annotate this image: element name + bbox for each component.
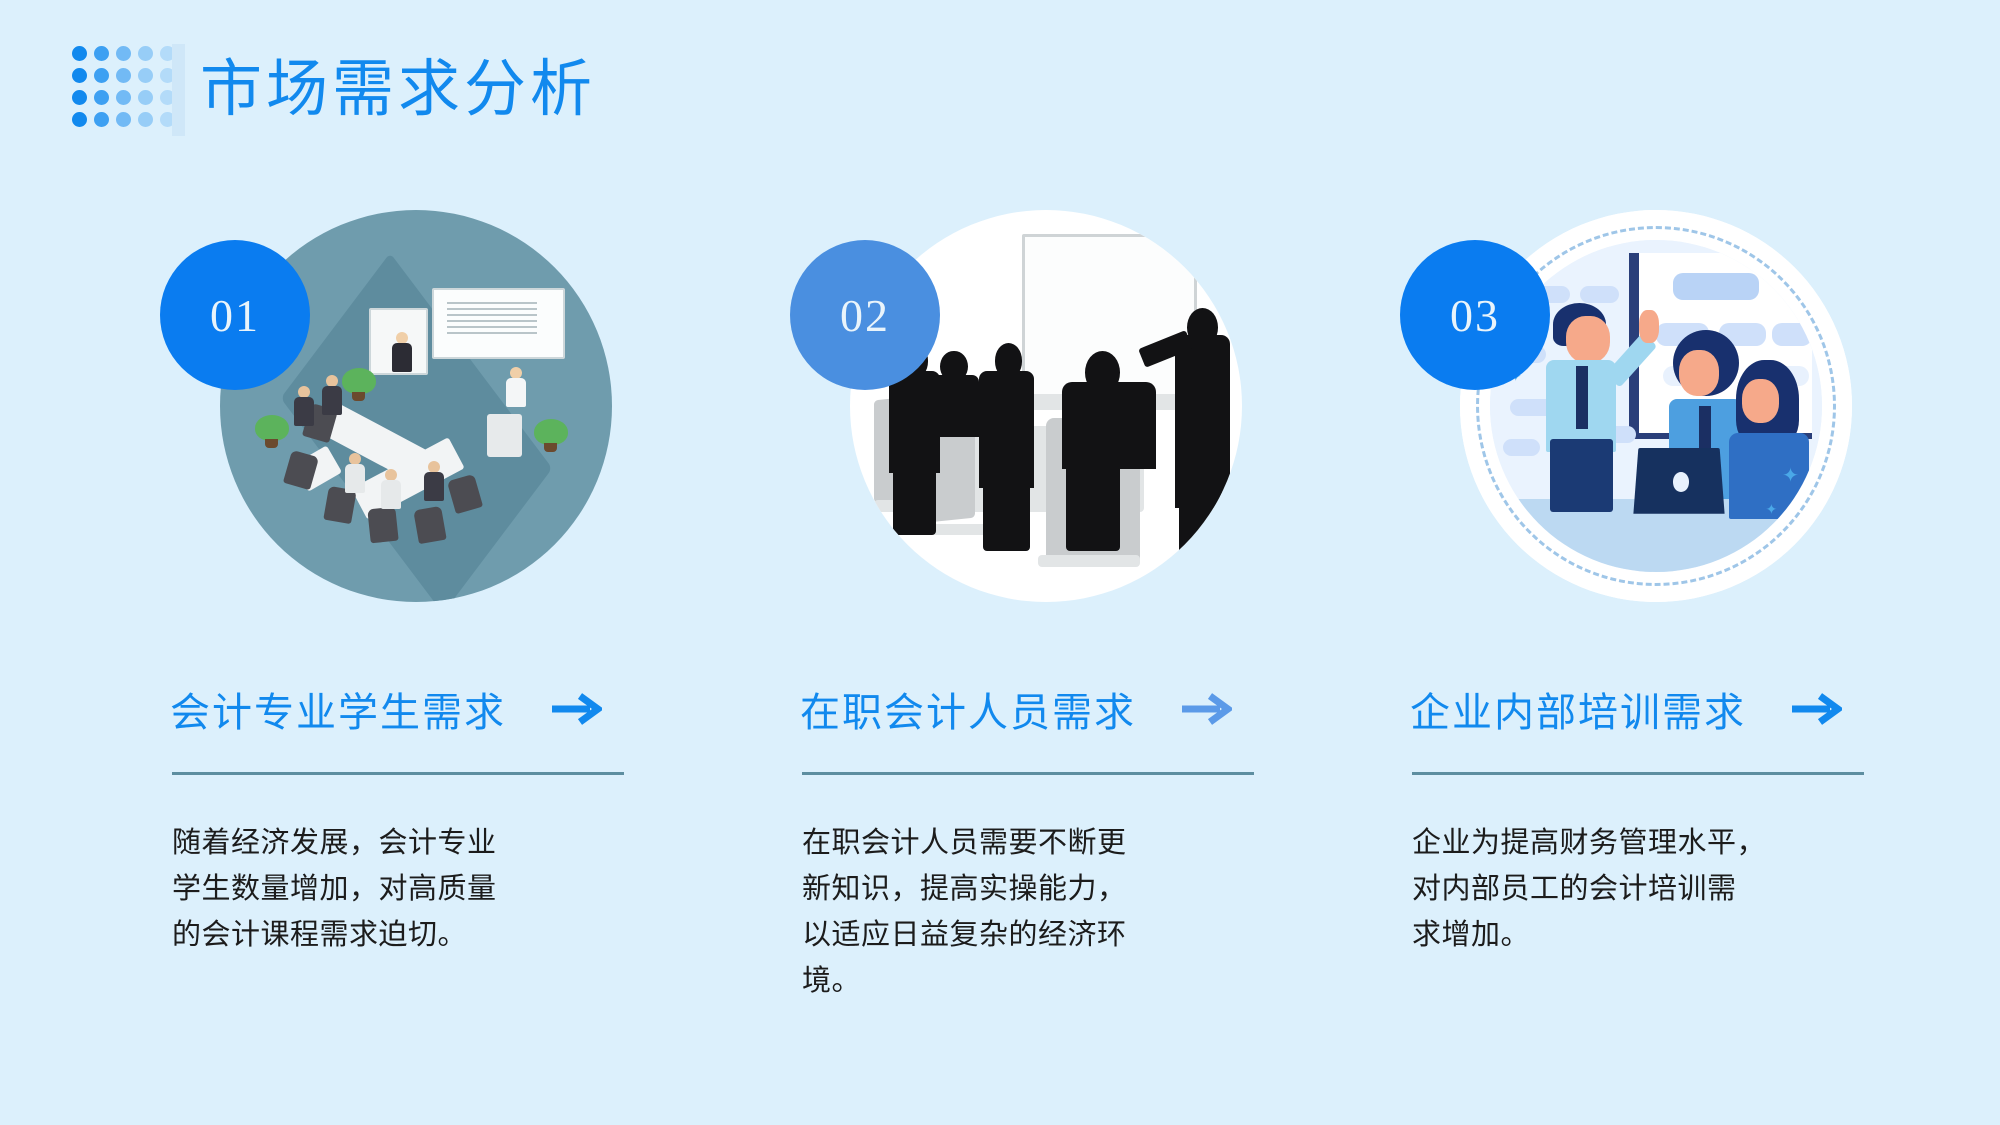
card-headline-row[interactable]: 在职会计人员需求 bbox=[800, 680, 1232, 738]
card-item[interactable]: 02 在职会计人员需求 在职会计人员需要不断更 新知识，提高实操能力， 以适应日… bbox=[790, 210, 1310, 1030]
card-number: 01 bbox=[210, 289, 260, 342]
card-heading: 企业内部培训需求 bbox=[1410, 680, 1746, 738]
card-list: 01 会计专业学生需求 随着经济发展，会计专业 学生数量增加，对高质量 的会计课… bbox=[0, 210, 2000, 1030]
card-divider bbox=[802, 772, 1254, 775]
card-media: 02 bbox=[790, 210, 1220, 610]
card-body-text: 在职会计人员需要不断更 新知识，提高实操能力， 以适应日益复杂的经济环 境。 bbox=[802, 820, 1174, 1004]
title-accent-bar bbox=[172, 44, 185, 136]
card-divider bbox=[172, 772, 624, 775]
card-body-text: 企业为提高财务管理水平， 对内部员工的会计培训需 求增加。 bbox=[1412, 820, 1784, 958]
arrow-right-icon[interactable] bbox=[1180, 692, 1232, 726]
card-divider bbox=[1412, 772, 1864, 775]
card-number: 02 bbox=[840, 289, 890, 342]
card-heading: 会计专业学生需求 bbox=[170, 680, 506, 738]
card-item[interactable]: ✦ ✦ ✦ ✦ ✦ ✦ 03 企业内部培训需求 bbox=[1400, 210, 1920, 1030]
page-title: 市场需求分析 bbox=[200, 42, 596, 138]
card-number-badge: 03 bbox=[1400, 240, 1550, 390]
slide-canvas: 市场需求分析 bbox=[0, 0, 2000, 1125]
card-body-text: 随着经济发展，会计专业 学生数量增加，对高质量 的会计课程需求迫切。 bbox=[172, 820, 544, 958]
card-heading: 在职会计人员需求 bbox=[800, 680, 1136, 738]
dot-grid-icon bbox=[72, 46, 182, 134]
card-number-badge: 02 bbox=[790, 240, 940, 390]
arrow-right-icon[interactable] bbox=[550, 692, 602, 726]
card-item[interactable]: 01 会计专业学生需求 随着经济发展，会计专业 学生数量增加，对高质量 的会计课… bbox=[160, 210, 680, 1030]
card-media: 01 bbox=[160, 210, 590, 610]
card-headline-row[interactable]: 企业内部培训需求 bbox=[1410, 680, 1842, 738]
card-headline-row[interactable]: 会计专业学生需求 bbox=[170, 680, 602, 738]
arrow-right-icon[interactable] bbox=[1790, 692, 1842, 726]
card-media: ✦ ✦ ✦ ✦ ✦ ✦ 03 bbox=[1400, 210, 1830, 610]
card-number: 03 bbox=[1450, 289, 1500, 342]
card-number-badge: 01 bbox=[160, 240, 310, 390]
slide-header: 市场需求分析 bbox=[0, 0, 2000, 170]
